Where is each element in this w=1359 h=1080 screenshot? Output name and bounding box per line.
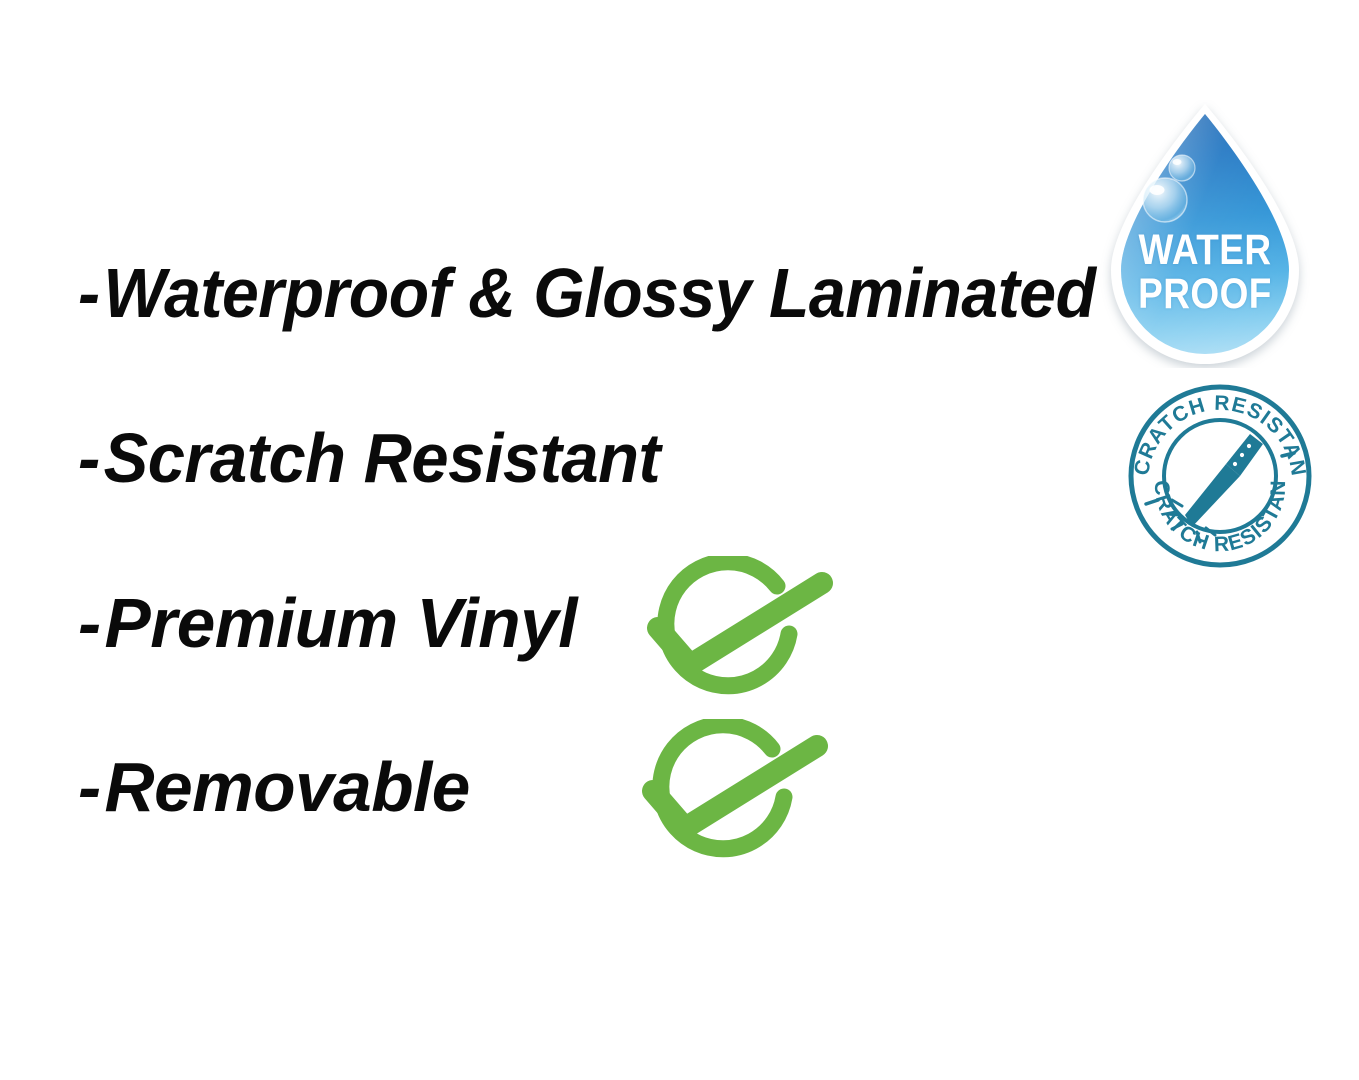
feature-label: Waterproof & Glossy Laminated <box>103 254 1095 332</box>
stamp-text-top: SCRATCH RESISTANT <box>1122 382 1310 478</box>
feature-dash: - <box>78 423 100 493</box>
waterproof-badge: WATER PROOF <box>1099 100 1311 368</box>
knife-blade <box>1185 464 1240 527</box>
water-bubble-small-highlight <box>1173 159 1182 165</box>
knife-rivet-1 <box>1247 444 1251 448</box>
feature-dash: - <box>78 752 101 822</box>
feature-item-removable: -Removable <box>78 752 470 822</box>
knife-stamp-icon: SCRATCH RESISTANT SCRATCH RESISTANT <box>1122 382 1318 570</box>
knife-rivet-3 <box>1233 462 1237 466</box>
feature-item-premium-vinyl: -Premium Vinyl <box>78 588 577 658</box>
check-tick <box>653 746 817 828</box>
knife-rivet-2 <box>1240 453 1244 457</box>
feature-dash: - <box>78 588 101 658</box>
scratch-resistant-badge: SCRATCH RESISTANT SCRATCH RESISTANT <box>1122 382 1318 570</box>
product-feature-graphic: -Waterproof & Glossy Laminated -Scratch … <box>0 0 1359 1080</box>
water-bubble-large-highlight <box>1150 185 1165 195</box>
check-icon-premium-vinyl <box>636 556 836 714</box>
feature-label: Scratch Resistant <box>104 419 661 497</box>
check-tick <box>658 583 822 665</box>
check-icon-removable <box>631 719 831 877</box>
circle-check-icon <box>636 556 836 714</box>
feature-dash: - <box>78 258 100 328</box>
feature-label: Removable <box>105 748 470 826</box>
feature-item-waterproof-glossy-laminated: -Waterproof & Glossy Laminated <box>78 258 1096 328</box>
feature-item-scratch-resistant: -Scratch Resistant <box>78 423 660 493</box>
water-drop-icon <box>1099 100 1311 368</box>
feature-label: Premium Vinyl <box>105 584 577 662</box>
circle-check-icon <box>631 719 831 877</box>
droplet-sheen <box>1121 114 1289 354</box>
scratch-spark-2 <box>1167 514 1179 515</box>
